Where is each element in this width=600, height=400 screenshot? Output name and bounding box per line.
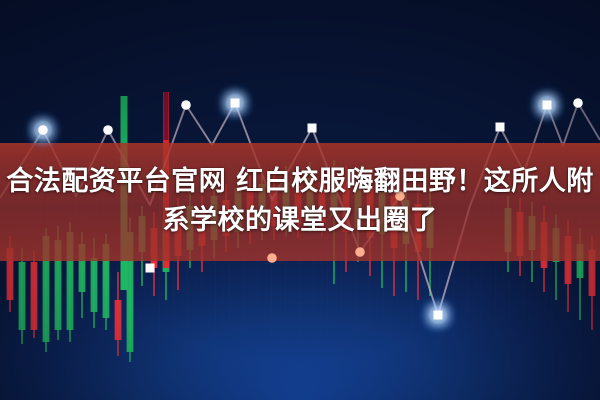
headline-line-1: 合法配资平台官网 红白校服嗨翻田野！这所人附 [0, 166, 600, 198]
headline-line-2: 系学校的课堂又出圈了 [0, 205, 600, 237]
banner-image: 合法配资平台官网 红白校服嗨翻田野！这所人附 系学校的课堂又出圈了 [0, 0, 600, 400]
chart-markers-layer [0, 0, 600, 400]
